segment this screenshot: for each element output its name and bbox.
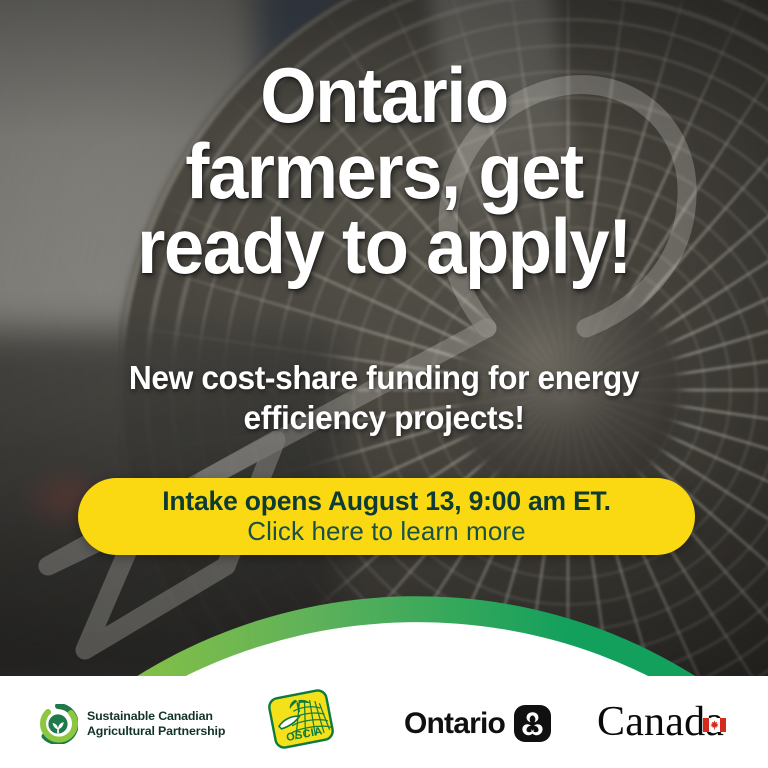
scap-label: Sustainable Canadian Agricultural Partne…: [87, 709, 225, 738]
scap-sprout-circle-icon: [38, 704, 78, 744]
logo-oscia[interactable]: OSCIA: [262, 688, 340, 750]
ontario-trillium-icon: [514, 705, 551, 742]
headline-line-3: ready to apply!: [53, 209, 715, 285]
oscia-icon: OSCIA: [262, 688, 340, 750]
cta-secondary-label: Click here to learn more: [247, 517, 525, 546]
logo-canada[interactable]: Canada: [597, 701, 724, 743]
cta-primary-label: Intake opens August 13, 9:00 am ET.: [162, 487, 611, 517]
scap-label-line-2: Agricultural Partnership: [87, 724, 225, 738]
canada-flag-icon: [703, 698, 726, 712]
subheadline-line-1: New cost-share funding for energy: [83, 358, 686, 398]
footer-logo-row: Sustainable Canadian Agricultural Partne…: [0, 658, 768, 768]
headline-line-1: Ontario: [53, 58, 715, 134]
ontario-wordmark: Ontario: [404, 709, 505, 739]
promo-graphic: Ontario farmers, get ready to apply! New…: [0, 0, 768, 768]
logo-ontario[interactable]: Ontario: [404, 705, 551, 742]
footer: Sustainable Canadian Agricultural Partne…: [0, 568, 768, 768]
cta-button[interactable]: Intake opens August 13, 9:00 am ET. Clic…: [78, 478, 695, 555]
scap-label-line-1: Sustainable Canadian: [87, 709, 213, 723]
headline-line-2: farmers, get: [53, 134, 715, 210]
subheadline: New cost-share funding for energy effici…: [15, 358, 752, 439]
subheadline-line-2: efficiency projects!: [83, 398, 686, 438]
canada-wordmark: Canada: [597, 701, 724, 743]
logo-sustainable-canadian-agricultural-partnership[interactable]: Sustainable Canadian Agricultural Partne…: [38, 704, 225, 744]
headline: Ontario farmers, get ready to apply!: [27, 58, 741, 285]
